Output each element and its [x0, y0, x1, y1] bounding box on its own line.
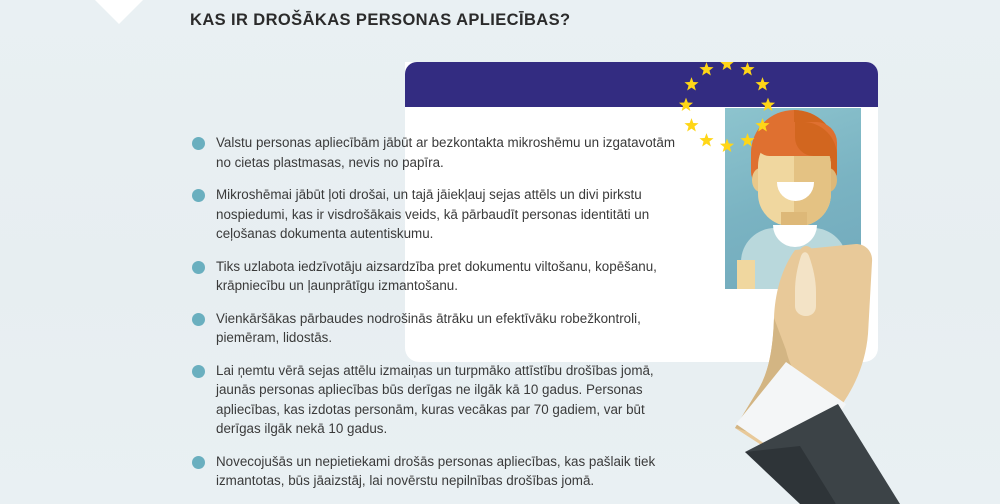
- list-item: Lai ņemtu vērā sejas attēlu izmaiņas un …: [192, 361, 684, 439]
- list-item-text: Lai ņemtu vērā sejas attēlu izmaiņas un …: [216, 361, 684, 439]
- bullet-dot-icon: [192, 365, 205, 378]
- portrait-arm-right: [833, 260, 851, 289]
- portrait-arm-left: [737, 260, 755, 289]
- bullet-list: Valstu personas apliecībām jābūt ar bezk…: [192, 133, 684, 504]
- infographic-canvas: KAS IR DROŠĀKAS PERSONAS APLIECĪBAS?: [0, 0, 1000, 504]
- list-item: Vienkāršākas pārbaudes nodrošinās ātrāku…: [192, 309, 684, 348]
- id-photo-portrait: [725, 108, 861, 289]
- page-title: KAS IR DROŠĀKAS PERSONAS APLIECĪBAS?: [190, 11, 571, 30]
- bullet-dot-icon: [192, 261, 205, 274]
- list-item: Novecojušās un nepietiekami drošās perso…: [192, 452, 684, 491]
- list-item-text: Novecojušās un nepietiekami drošās perso…: [216, 452, 684, 491]
- list-item: Valstu personas apliecībām jābūt ar bezk…: [192, 133, 684, 172]
- card-header-band: [405, 62, 878, 107]
- list-item: Mikroshēmai jābūt ļoti drošai, un tajā j…: [192, 185, 684, 244]
- bullet-dot-icon: [192, 189, 205, 202]
- list-item-text: Vienkāršākas pārbaudes nodrošinās ātrāku…: [216, 309, 684, 348]
- bullet-dot-icon: [192, 313, 205, 326]
- bullet-dot-icon: [192, 456, 205, 469]
- white-down-triangle-icon: [95, 0, 143, 24]
- list-item-text: Valstu personas apliecībām jābūt ar bezk…: [216, 133, 684, 172]
- list-item-text: Mikroshēmai jābūt ļoti drošai, un tajā j…: [216, 185, 684, 244]
- bullet-dot-icon: [192, 137, 205, 150]
- list-item: Tiks uzlabota iedzīvotāju aizsardzība pr…: [192, 257, 684, 296]
- list-item-text: Tiks uzlabota iedzīvotāju aizsardzība pr…: [216, 257, 684, 296]
